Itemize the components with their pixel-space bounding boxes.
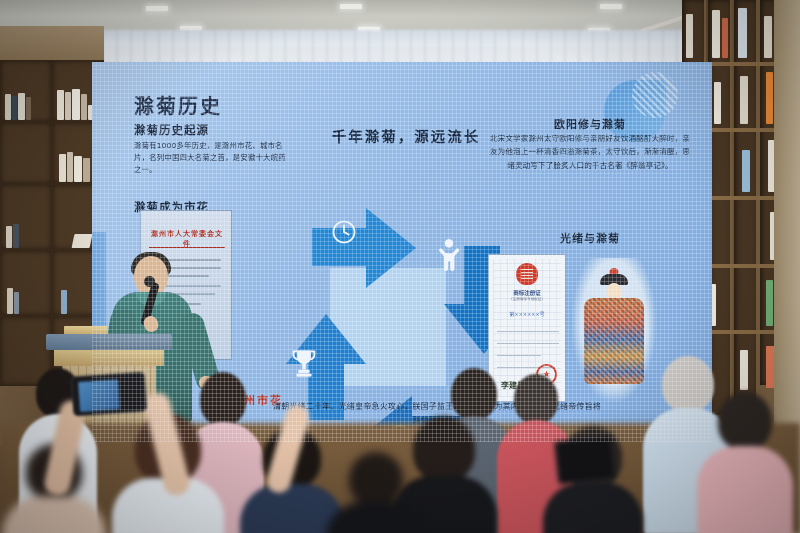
left-body-1: 滁菊有1000多年历史，是滁州市花、城市名片，名列中国四大名菊之首，是安徽十大皖… [134, 140, 286, 177]
decor-dot-pattern [632, 72, 678, 118]
arrow-right [366, 208, 416, 288]
shelf-cell [0, 250, 52, 316]
shelf-cell [0, 122, 52, 184]
certificate-title: 商标注册证 [489, 289, 565, 297]
trophy-icon [290, 348, 318, 378]
tablet-device[interactable] [554, 435, 616, 485]
smartphone-recording[interactable] [71, 371, 148, 416]
shelf-top-rail [0, 26, 104, 60]
ceiling-light-5 [600, 4, 622, 9]
right-body-1: 北宋文学家滁州太守欧阳修与亲朋好友饮酒酩酊大醉时，亲友为他泡上一杯清香四溢滁菊茶… [488, 132, 692, 172]
audience-member [330, 452, 422, 533]
person-icon [436, 238, 462, 272]
emperor-portrait [572, 258, 656, 402]
ceiling-light-3 [340, 4, 362, 9]
photo-scene: 滁菊历史 滁菊历史起源 滁菊有1000多年历史，是滁州市花、城市名片，名列中国四… [0, 0, 800, 533]
right-subheading-2: 光绪与滁菊 [490, 230, 690, 246]
ceiling-light-1 [146, 6, 168, 11]
shelf-cell [0, 184, 52, 250]
shelf-cell [0, 60, 52, 122]
center-title: 千年滁菊，源远流长 [306, 126, 506, 147]
document-title: 滁州市人大常委会文件 [149, 229, 225, 249]
slide-heading: 滁菊历史 [134, 90, 222, 119]
clock-icon [330, 218, 358, 246]
phone-screen [78, 379, 120, 412]
microphone-head [144, 276, 155, 287]
audience-member [702, 392, 788, 533]
right-subheading-1: 欧阳修与滁菊 [490, 116, 690, 132]
national-emblem-icon [516, 263, 538, 285]
left-subheading-1: 滁菊历史起源 [134, 122, 209, 138]
